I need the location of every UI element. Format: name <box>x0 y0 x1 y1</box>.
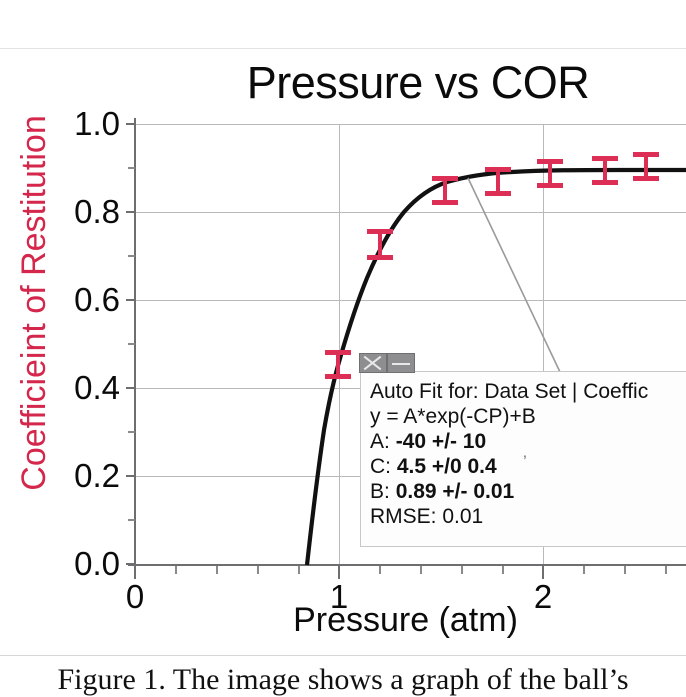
fit-param-b-value: 0.89 +/- 0.01 <box>396 480 515 503</box>
errorbar-cap-upper <box>633 152 659 157</box>
errorbar-stem <box>644 154 648 178</box>
fit-param-b: B: 0.89 +/- 0.01 <box>370 479 686 504</box>
fit-param-c: C: 4.5 +/0 0.4 <box>370 454 686 479</box>
fit-box-window-controls <box>359 353 419 373</box>
errorbar-cap-upper <box>432 176 458 181</box>
errorbar-cap-upper <box>537 159 563 164</box>
errorbar-cap-upper <box>592 156 618 161</box>
errorbar-stem <box>548 161 552 185</box>
fit-param-a-key: A: <box>370 430 390 453</box>
errorbar-stem <box>336 352 340 376</box>
errorbar-stem <box>443 178 447 202</box>
errorbar-stem <box>496 169 500 193</box>
fit-rmse: RMSE: 0.01 <box>370 504 686 529</box>
errorbar-cap-lower <box>367 255 393 260</box>
curve-layer <box>0 0 686 686</box>
errorbar-cap-lower <box>537 183 563 188</box>
fit-equation: y = A*exp(-CP)+B <box>370 404 686 429</box>
errorbar-stem <box>378 231 382 257</box>
annotation-leader-line <box>468 178 560 372</box>
fit-param-c-key: C: <box>370 455 391 478</box>
figure-container: Pressure vs COR 1.0 0.8 0.6 0.4 0.2 0.0 <box>0 0 686 686</box>
errorbar-cap-lower <box>485 191 511 196</box>
fit-box-header: Auto Fit for: Data Set | Coeffic <box>370 379 686 404</box>
errorbar-cap-upper <box>325 350 351 355</box>
errorbar-cap-upper <box>485 167 511 172</box>
close-icon[interactable] <box>359 353 387 373</box>
fit-param-a-value: -40 +/- 10 <box>396 430 486 453</box>
minimize-icon[interactable] <box>387 353 415 373</box>
bottom-divider <box>0 655 686 656</box>
fit-rmse-value: 0.01 <box>442 505 483 528</box>
fit-rmse-key: RMSE: <box>370 505 437 528</box>
fit-param-c-value: 4.5 +/0 0.4 <box>397 455 497 478</box>
errorbar-stem <box>603 158 607 182</box>
errorbar-cap-lower <box>592 180 618 185</box>
errorbar-cap-lower <box>432 200 458 205</box>
errorbar-cap-upper <box>367 229 393 234</box>
fit-param-b-key: B: <box>370 480 390 503</box>
fit-box-body: Auto Fit for: Data Set | Coeffic y = A*e… <box>361 372 686 529</box>
fit-param-a: A: -40 +/- 10 <box>370 429 686 454</box>
errorbar-cap-lower <box>325 374 351 379</box>
errorbar-cap-lower <box>633 176 659 181</box>
stray-apostrophe-mark: ’ <box>523 452 527 472</box>
figure-caption: Figure 1. The image shows a graph of the… <box>0 663 686 697</box>
